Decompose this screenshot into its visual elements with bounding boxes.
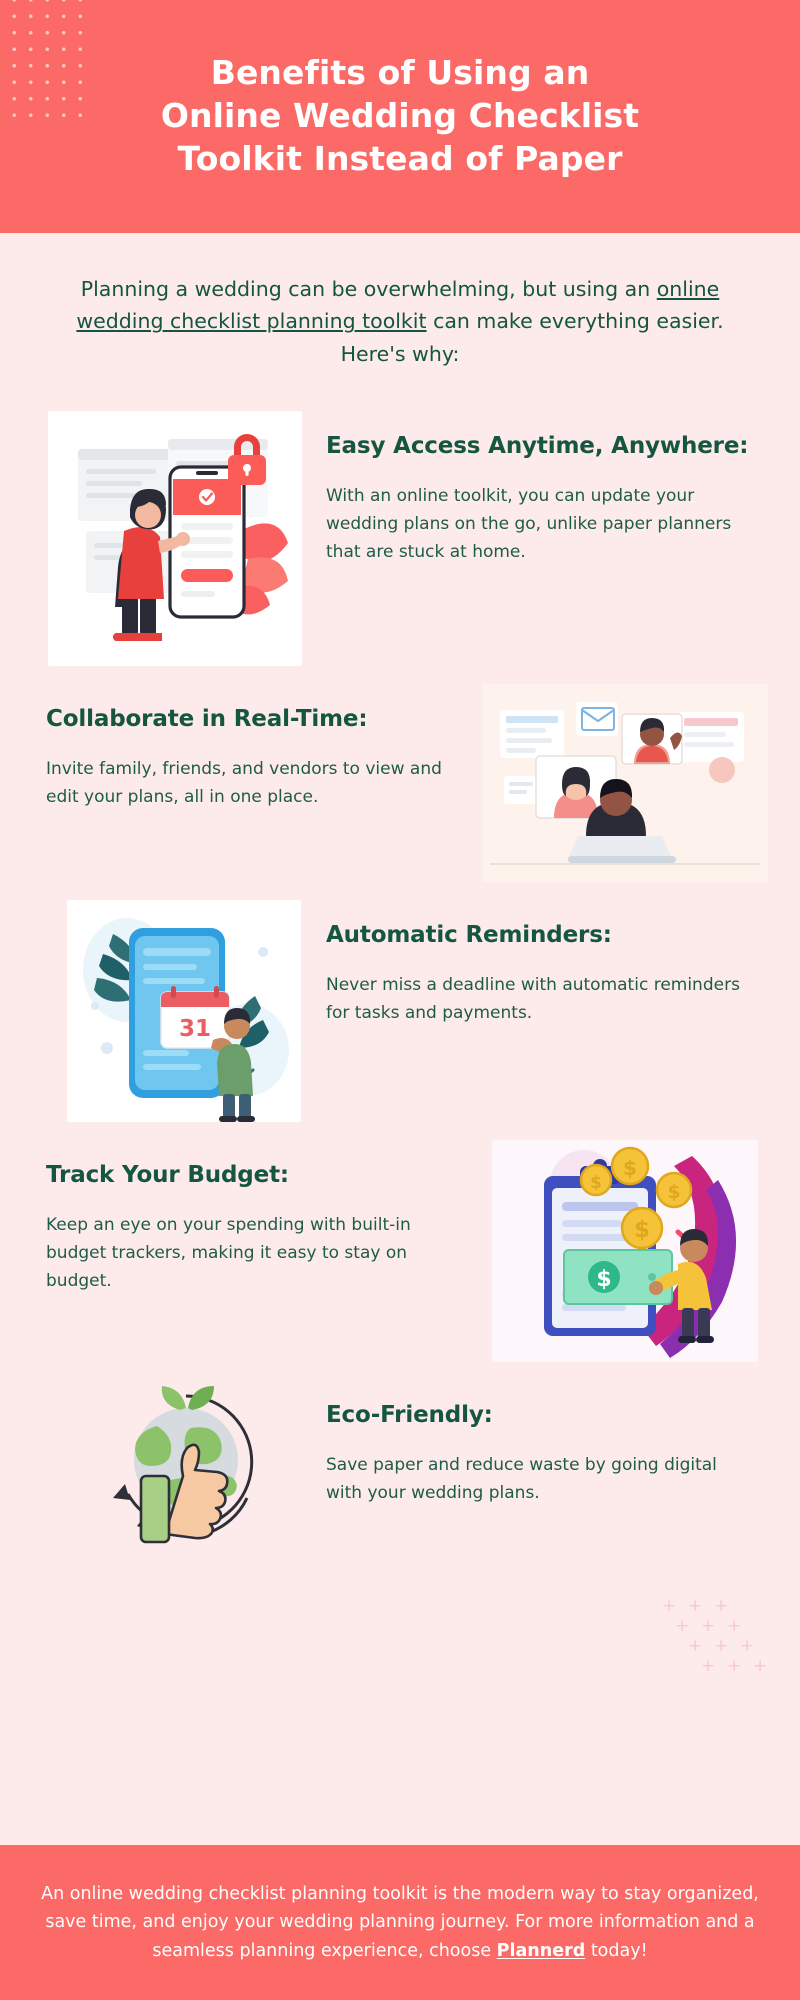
plus-glyph: + (740, 1638, 754, 1655)
svg-text:31: 31 (179, 1016, 211, 1042)
benefit-copy-easy-access: Easy Access Anytime, Anywhere: With an o… (326, 411, 754, 566)
plus-glyph: + (662, 1598, 676, 1615)
plus-glyph: + (727, 1658, 741, 1675)
mobile-secure-login-illustration-icon (48, 411, 302, 666)
benefit-title: Track Your Budget: (46, 1160, 474, 1190)
plus-glyph: + (675, 1618, 689, 1635)
footer-text-after-link: today! (585, 1941, 647, 1961)
page-title-line-2: Online Wedding Checklist (40, 95, 760, 138)
budget-money-clipboard-illustration-icon: $ $ $ $ $ (492, 1140, 758, 1362)
benefit-copy-collaborate: Collaborate in Real-Time: Invite family,… (46, 684, 474, 811)
benefit-image-collaborate (496, 684, 754, 882)
benefits-list: Easy Access Anytime, Anywhere: With an o… (0, 380, 800, 1554)
benefit-title: Easy Access Anytime, Anywhere: (326, 431, 754, 461)
footer-text-before-link: An online wedding checklist planning too… (41, 1884, 759, 1961)
benefit-image-easy-access (46, 411, 304, 666)
benefit-body: With an online toolkit, you can update y… (326, 483, 754, 566)
svg-text:$: $ (667, 1181, 680, 1203)
benefit-row-collaborate: Collaborate in Real-Time: Invite family,… (0, 675, 800, 891)
benefit-copy-reminders: Automatic Reminders: Never miss a deadli… (326, 900, 754, 1027)
benefit-title: Collaborate in Real-Time: (46, 704, 474, 734)
benefit-copy-eco: Eco-Friendly: Save paper and reduce wast… (326, 1380, 754, 1507)
benefit-row-reminders: 31 Automatic Reminders: Never mi (0, 891, 800, 1131)
page-title-line-3: Toolkit Instead of Paper (40, 138, 760, 181)
svg-text:$: $ (590, 1173, 602, 1193)
page-title: Benefits of Using an Online Wedding Chec… (0, 52, 800, 181)
benefit-image-eco (46, 1380, 304, 1545)
benefit-body: Save paper and reduce waste by going dig… (326, 1452, 754, 1507)
benefit-image-reminders: 31 (46, 900, 304, 1122)
calendar-reminder-phone-illustration-icon: 31 (67, 900, 301, 1122)
plus-glyph: + (714, 1598, 728, 1615)
benefit-title: Automatic Reminders: (326, 920, 754, 950)
svg-text:$: $ (634, 1217, 650, 1243)
intro-text-before-link: Planning a wedding can be overwhelming, … (81, 277, 657, 301)
plus-glyph: + (727, 1618, 741, 1635)
infographic-page: Benefits of Using an Online Wedding Chec… (0, 0, 800, 2000)
header-banner: Benefits of Using an Online Wedding Chec… (0, 0, 800, 233)
eco-globe-thumbs-up-illustration-icon (79, 1380, 293, 1545)
svg-text:$: $ (596, 1267, 611, 1292)
plus-glyph: + (701, 1658, 715, 1675)
benefit-body: Invite family, friends, and vendors to v… (46, 756, 474, 811)
benefit-row-budget: $ $ $ $ $ (0, 1131, 800, 1371)
page-title-line-1: Benefits of Using an (40, 52, 760, 95)
benefit-copy-budget: Track Your Budget: Keep an eye on your s… (46, 1140, 474, 1295)
footer-paragraph: An online wedding checklist planning too… (28, 1880, 772, 1965)
benefit-row-easy-access: Easy Access Anytime, Anywhere: With an o… (0, 402, 800, 675)
benefit-title: Eco-Friendly: (326, 1400, 754, 1430)
intro-section: Planning a wedding can be overwhelming, … (0, 233, 800, 380)
intro-paragraph: Planning a wedding can be overwhelming, … (52, 273, 748, 370)
footer-banner: An online wedding checklist planning too… (0, 1845, 800, 2000)
benefit-body: Keep an eye on your spending with built-… (46, 1212, 474, 1295)
benefit-row-eco: Eco-Friendly: Save paper and reduce wast… (0, 1371, 800, 1554)
footer-brand-link[interactable]: Plannerd (497, 1941, 586, 1961)
plus-glyph: + (753, 1658, 767, 1675)
benefit-body: Never miss a deadline with automatic rem… (326, 972, 754, 1027)
benefit-image-budget: $ $ $ $ $ (496, 1140, 754, 1362)
plus-glyph: + (714, 1638, 728, 1655)
video-call-collaboration-illustration-icon (482, 684, 768, 882)
plus-grid-pattern-icon: + + + + + + + + + + + + (662, 1598, 780, 1678)
plus-glyph: + (688, 1598, 702, 1615)
plus-glyph: + (688, 1638, 702, 1655)
svg-text:$: $ (623, 1156, 637, 1180)
plus-glyph: + (701, 1618, 715, 1635)
